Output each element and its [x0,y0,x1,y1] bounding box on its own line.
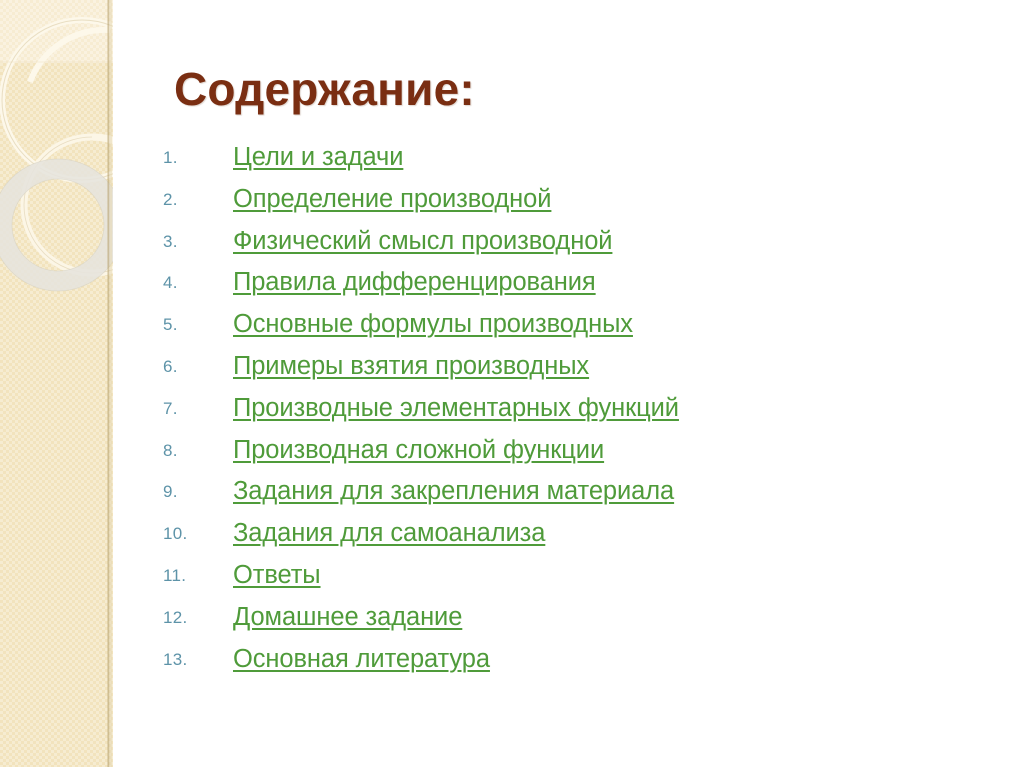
list-item: 9. Задания для закрепления материала [0,471,900,513]
list-item-number: 3. [163,221,205,263]
list-item-number: 7. [163,388,205,430]
list-item-number: 5. [163,304,205,346]
toc-link-celi-i-zadachi[interactable]: Цели и задачи [233,137,403,179]
list-item: 10. Задания для самоанализа [0,513,900,555]
list-item: 11. Ответы [0,555,900,597]
list-item-number: 9. [163,471,205,513]
list-item-number: 4. [163,262,205,304]
page-title: Содержание: [174,62,475,116]
list-item-number: 10. [163,513,205,555]
toc-link-fizicheskiy-smysl[interactable]: Физический смысл производной [233,221,612,263]
toc-link-proizvodnaya-slozhnoy[interactable]: Производная сложной функции [233,430,604,472]
toc-link-proizvodnye-elementarnyh[interactable]: Производные элементарных функций [233,388,679,430]
list-item-number: 11. [163,555,205,597]
toc-link-pravila-differencirovaniya[interactable]: Правила дифференцирования [233,262,596,304]
toc-link-domashnee-zadanie[interactable]: Домашнее задание [233,597,462,639]
toc-link-opredelenie-proizvodnoy[interactable]: Определение производной [233,179,551,221]
list-item-number: 12. [163,597,205,639]
list-item: 4. Правила дифференцирования [0,262,900,304]
presentation-slide: Содержание: 1. Цели и задачи 2. Определе… [0,0,1024,767]
slide-content: Содержание: 1. Цели и задачи 2. Определе… [0,0,1024,767]
table-of-contents-list: 1. Цели и задачи 2. Определение производ… [0,137,900,680]
list-item-number: 2. [163,179,205,221]
toc-link-zadaniya-zakrepleniya[interactable]: Задания для закрепления материала [233,471,674,513]
list-item-number: 1. [163,137,205,179]
list-item: 6. Примеры взятия производных [0,346,900,388]
list-item-number: 8. [163,430,205,472]
list-item-number: 13. [163,639,205,681]
toc-link-otvety[interactable]: Ответы [233,555,321,597]
list-item: 13. Основная литература [0,639,900,681]
list-item: 2. Определение производной [0,179,900,221]
list-item: 7. Производные элементарных функций [0,388,900,430]
list-item: 12. Домашнее задание [0,597,900,639]
list-item: 1. Цели и задачи [0,137,900,179]
toc-link-zadaniya-samoanaliza[interactable]: Задания для самоанализа [233,513,545,555]
list-item-number: 6. [163,346,205,388]
list-item: 5. Основные формулы производных [0,304,900,346]
toc-link-primery-vzyatiya[interactable]: Примеры взятия производных [233,346,589,388]
toc-link-osnovnye-formuly[interactable]: Основные формулы производных [233,304,633,346]
toc-link-osnovnaya-literatura[interactable]: Основная литература [233,639,490,681]
list-item: 8. Производная сложной функции [0,430,900,472]
list-item: 3. Физический смысл производной [0,221,900,263]
